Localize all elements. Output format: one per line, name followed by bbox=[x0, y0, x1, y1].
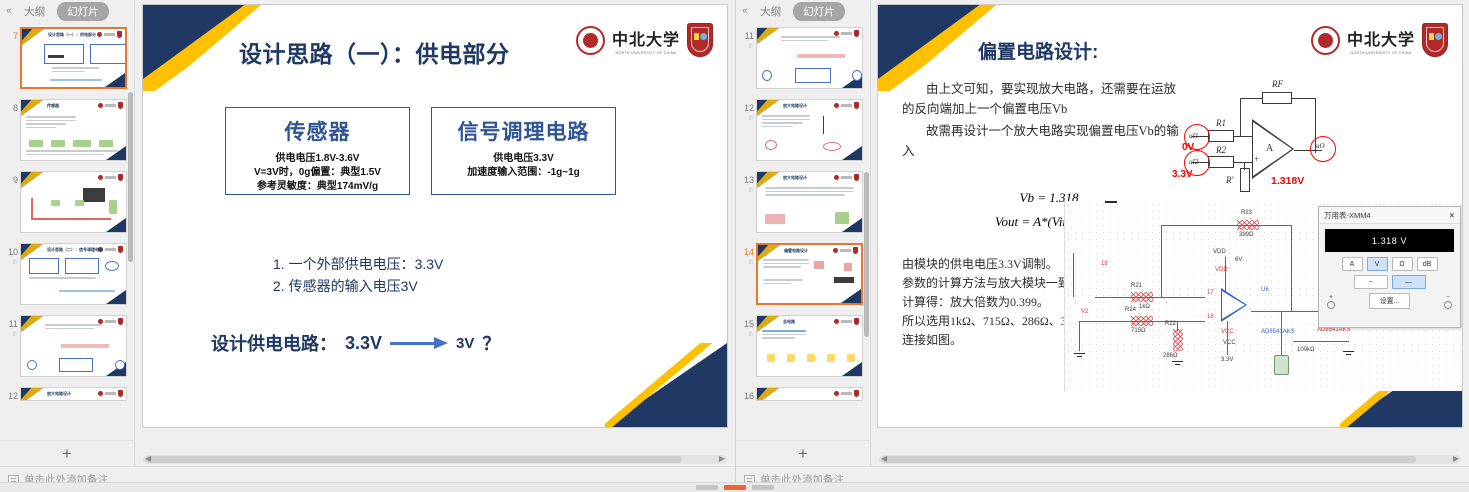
thumbnail-item[interactable]: 8 传感器 bbox=[0, 94, 134, 166]
thumbnail-item[interactable]: 11 ☆ bbox=[0, 310, 134, 382]
mini-shape bbox=[65, 258, 99, 274]
mini-shape bbox=[765, 214, 785, 224]
value-r24: 715Ω bbox=[1131, 328, 1146, 334]
mini-slide-title: 放大电路设计 bbox=[783, 175, 807, 181]
mini-university-logo bbox=[834, 390, 859, 397]
tab-slides[interactable]: 幻灯片 bbox=[793, 2, 845, 21]
thumbnail-list-left[interactable]: 7 设计思路（一）：供电部分 bbox=[0, 22, 134, 440]
ground-symbol bbox=[1343, 351, 1354, 358]
mini-shape bbox=[109, 200, 117, 214]
label-uo: uO bbox=[1316, 142, 1325, 150]
university-seal-icon bbox=[576, 26, 605, 55]
pane-right-body: « 大纲 幻灯片 11 ☆ bbox=[736, 0, 1469, 466]
mini-university-logo bbox=[834, 174, 859, 181]
mini-shape bbox=[59, 358, 93, 372]
net-18: 18 bbox=[1207, 314, 1214, 320]
ordered-list: 1. 一个外部供电电压：3.3V 2. 传感器的输入电压3V bbox=[273, 253, 443, 297]
mini-shape bbox=[105, 261, 119, 271]
label-rprime: R' bbox=[1226, 175, 1233, 185]
key-box-line: 供电电压1.8V-3.6V bbox=[226, 152, 409, 166]
slide-canvas-14[interactable]: 偏置电路设计: 中北大学 NORTH UNIVERSITY OF CHINA 由… bbox=[877, 4, 1463, 428]
mini-text-lines bbox=[763, 259, 809, 270]
load-label: 100kΩ bbox=[1297, 347, 1315, 353]
label-amp: A bbox=[1266, 143, 1273, 154]
thumbnail-number: 13 bbox=[738, 175, 754, 186]
key-box-sensor: 传感器 供电电压1.8V-3.6V V=3V时，0g偏置：典型1.5V 参考灵敏… bbox=[225, 107, 410, 195]
multimeter-coupling-row: ~ — bbox=[1319, 275, 1460, 289]
key-box-signal-conditioning: 信号调理电路 供电电压3.3V 加速度输入范围：-1g~1g bbox=[431, 107, 616, 195]
pane-left-body: « 大纲 幻灯片 7 设计思路（一）：供电部 bbox=[0, 0, 735, 466]
thumbnail-number: 11 bbox=[2, 319, 18, 330]
mini-text-lines bbox=[29, 277, 118, 281]
key-box-heading: 传感器 bbox=[226, 116, 409, 146]
mini-shape bbox=[73, 140, 91, 147]
mini-shape bbox=[847, 354, 855, 362]
horizontal-scrollbar-right[interactable]: ◀ ▶ bbox=[879, 455, 1461, 464]
mini-corner-bottom-right bbox=[105, 73, 125, 87]
thumbnail-meta: 9 bbox=[2, 171, 18, 186]
thumbnail-preview[interactable]: 放大电路设计 bbox=[756, 99, 863, 161]
mini-university-logo bbox=[98, 174, 123, 181]
terminal-plus-label: + bbox=[1329, 294, 1333, 301]
collapse-icon[interactable]: « bbox=[6, 5, 12, 17]
thumbnail-item[interactable]: 12 放大电路设计 bbox=[0, 382, 134, 407]
mini-slide-title: 总电路 bbox=[783, 319, 795, 325]
mini-university-logo bbox=[834, 102, 859, 109]
thumbnail-star-icon: ☆ bbox=[2, 258, 18, 267]
mini-shape bbox=[827, 354, 835, 362]
terminal-minus-icon[interactable] bbox=[1444, 301, 1452, 309]
list-item: 1. 一个外部供电电压：3.3V bbox=[273, 253, 443, 275]
resistor-rf bbox=[1262, 92, 1292, 104]
mini-slide-title: 传感器 bbox=[47, 103, 59, 109]
body-paragraph-2: 故需再设计一个放大电路实现偏置电压Vb的输入 bbox=[902, 121, 1180, 161]
label-r1: R1 bbox=[1216, 118, 1226, 128]
taskbar-strip[interactable] bbox=[0, 482, 1469, 492]
thumbnail-item[interactable]: 11 ☆ bbox=[736, 22, 870, 94]
net-u6: U6 bbox=[1261, 287, 1269, 293]
thumbnail-item[interactable]: 12 ☆ 放大电路设计 bbox=[736, 94, 870, 166]
coupling-button-ac[interactable]: ~ bbox=[1354, 275, 1388, 289]
mini-shape bbox=[814, 261, 824, 269]
wire bbox=[1251, 311, 1321, 312]
thumbnail-number: 16 bbox=[738, 391, 754, 402]
thumbnail-number: 9 bbox=[2, 175, 18, 186]
mini-shape bbox=[835, 212, 849, 224]
mini-corner-top-left bbox=[757, 28, 779, 44]
label-plus: + bbox=[1254, 154, 1259, 164]
wire bbox=[1161, 225, 1291, 226]
thumbnail-star-icon: ☆ bbox=[2, 330, 18, 339]
mini-shape bbox=[48, 55, 64, 58]
supply-vcc-value: 3.3V bbox=[1221, 357, 1233, 363]
slide-canvas-wrapper-right: 偏置电路设计: 中北大学 NORTH UNIVERSITY OF CHINA 由… bbox=[877, 4, 1463, 453]
coupling-button-dc[interactable]: — bbox=[1392, 275, 1426, 289]
mini-shape bbox=[844, 263, 852, 271]
wire bbox=[1227, 321, 1228, 355]
taskbar-item[interactable] bbox=[752, 485, 774, 490]
mini-shape bbox=[762, 70, 772, 81]
mini-shape bbox=[29, 258, 59, 274]
supply-vdd-value: 6V bbox=[1235, 257, 1242, 263]
mini-shape bbox=[852, 70, 862, 81]
mini-shape bbox=[823, 116, 824, 134]
mini-corner-top-left bbox=[21, 316, 43, 332]
mini-slide-title: 设计思路（二）：信号调理电路 bbox=[47, 247, 103, 253]
slide-canvas-wrapper-left: 设计思路（一）：供电部分 中北大学 NORTH UNIVERSITY OF CH… bbox=[141, 4, 729, 453]
thumbnail-number: 12 bbox=[2, 391, 18, 402]
thumbnail-item[interactable]: 10 ☆ 设计思路（二）：信号调理电路 bbox=[0, 238, 134, 310]
mini-shape bbox=[50, 79, 102, 81]
mini-shape bbox=[99, 140, 113, 147]
thumbnail-preview[interactable] bbox=[20, 315, 127, 377]
university-name-cn: 中北大学 bbox=[612, 26, 680, 50]
mini-corner-top-left bbox=[757, 172, 779, 188]
mini-corner-bottom-right bbox=[841, 289, 861, 303]
mini-university-logo bbox=[98, 390, 123, 397]
scroll-right-icon[interactable]: ▶ bbox=[1453, 454, 1459, 463]
mini-university-logo bbox=[97, 31, 122, 38]
mini-shape bbox=[823, 142, 841, 151]
ground-symbol bbox=[1172, 361, 1183, 368]
conclusion-from: 3.3V bbox=[345, 333, 382, 354]
opamp-symbol-fill bbox=[1222, 291, 1245, 319]
mini-shape bbox=[59, 290, 115, 292]
wire bbox=[1079, 321, 1080, 351]
conclusion-label: 设计供电电路： bbox=[211, 330, 337, 356]
mini-slide-title: 放大电路设计 bbox=[47, 391, 71, 397]
mini-text-lines bbox=[45, 324, 102, 331]
multimeter-footer: + 设置... − bbox=[1319, 289, 1460, 309]
university-name: 中北大学 NORTH UNIVERSITY OF CHINA bbox=[612, 26, 680, 55]
thumbnail-meta: 8 bbox=[2, 99, 18, 114]
mini-university-logo bbox=[834, 318, 859, 325]
multisim-schematic[interactable]: R23 399Ω VDD VDD 6V U6 18 bbox=[1064, 201, 1463, 391]
mini-text-lines bbox=[762, 115, 810, 129]
label-r23: R23 bbox=[1241, 210, 1252, 216]
mini-university-logo bbox=[833, 247, 858, 254]
thumbnail-preview[interactable]: 设计思路（一）：供电部分 bbox=[20, 27, 127, 89]
mini-shape bbox=[31, 198, 33, 220]
key-box-heading: 信号调理电路 bbox=[432, 116, 615, 146]
university-name-cn: 中北大学 bbox=[1347, 26, 1415, 50]
ground-symbol bbox=[1074, 353, 1085, 360]
settings-button[interactable]: 设置... bbox=[1369, 293, 1411, 309]
scroll-right-icon[interactable]: ▶ bbox=[719, 454, 725, 463]
scroll-left-icon[interactable]: ◀ bbox=[145, 454, 151, 463]
wire bbox=[1281, 311, 1282, 357]
thumbnail-list-right[interactable]: 11 ☆ bbox=[736, 22, 870, 440]
mini-corner-top-left bbox=[22, 29, 44, 45]
mini-shape bbox=[807, 354, 815, 362]
university-crest-icon bbox=[687, 23, 713, 57]
university-seal-icon bbox=[1311, 26, 1340, 55]
resistor-r1 bbox=[1208, 130, 1234, 142]
thumbnail-meta: 14 ☆ bbox=[738, 243, 754, 267]
page-title: 设计思路（一）：供电部分 bbox=[239, 35, 510, 69]
mini-shape bbox=[75, 200, 84, 206]
thumbnail-star-icon: ☆ bbox=[738, 330, 754, 339]
thumbnail-preview[interactable]: 总电路 bbox=[756, 315, 863, 377]
thumbnail-star-icon: ☆ bbox=[738, 114, 754, 123]
mode-button-ohm[interactable]: Ω bbox=[1392, 257, 1413, 271]
mini-text-lines bbox=[26, 150, 118, 157]
add-slide-button[interactable]: + bbox=[736, 440, 870, 466]
mini-corner-bottom-right bbox=[106, 290, 126, 304]
decor-corner-bottom-right bbox=[605, 343, 727, 427]
label-r24: R24 bbox=[1125, 307, 1136, 313]
multimeter-display: 1.318 V bbox=[1325, 229, 1454, 252]
multimeter-mode-row: A V Ω dB bbox=[1319, 257, 1460, 271]
university-name-en: NORTH UNIVERSITY OF CHINA bbox=[616, 51, 677, 55]
thumbnail-number: 12 bbox=[738, 103, 754, 114]
mini-corner-top-left bbox=[21, 172, 43, 188]
thumbnail-preview[interactable]: 放大电路设计 bbox=[20, 387, 127, 401]
thumbnail-item[interactable]: 13 ☆ 放大电路设计 bbox=[736, 166, 870, 238]
resistor-r24 bbox=[1131, 316, 1153, 326]
value-r23: 399Ω bbox=[1239, 232, 1254, 238]
mini-corner-top-left bbox=[757, 100, 779, 116]
net-vcc: VCC bbox=[1223, 340, 1236, 346]
thumbnail-meta: 13 ☆ bbox=[738, 171, 754, 195]
mini-shape bbox=[765, 140, 777, 150]
mini-university-logo bbox=[98, 102, 123, 109]
header-logos: 中北大学 NORTH UNIVERSITY OF CHINA bbox=[576, 23, 713, 57]
thumbnail-item[interactable]: 16 bbox=[736, 382, 870, 407]
net-vdd: VDD bbox=[1213, 249, 1226, 255]
label-ui2: uI2 bbox=[1189, 158, 1198, 166]
mini-text-lines bbox=[762, 330, 806, 341]
mini-text-lines bbox=[26, 116, 76, 130]
thumbnail-meta: 10 ☆ bbox=[2, 243, 18, 267]
tab-outline[interactable]: 大纲 bbox=[20, 3, 49, 20]
multimeter-titlebar[interactable]: 万用表-XMM4 ✕ bbox=[1319, 207, 1460, 224]
label-ui1: uI1 bbox=[1189, 132, 1198, 140]
mini-text-lines bbox=[763, 279, 803, 286]
terminal-minus-label: − bbox=[1446, 294, 1450, 301]
label-r21: R21 bbox=[1131, 283, 1142, 289]
mini-shape bbox=[90, 44, 127, 64]
mini-shape bbox=[797, 54, 845, 58]
taskbar-item-active[interactable] bbox=[724, 485, 746, 490]
value-r22: 286Ω bbox=[1163, 353, 1178, 359]
mini-shape bbox=[51, 200, 60, 206]
mini-corner-top-left bbox=[21, 388, 43, 401]
horizontal-scrollbar-left[interactable]: ◀ ▶ bbox=[143, 455, 727, 464]
mini-shape bbox=[31, 218, 111, 220]
mini-corner-bottom-right bbox=[842, 362, 862, 376]
mini-corner-top-left bbox=[757, 388, 779, 401]
opamp-schematic: RF R1 R2 R' bbox=[1178, 80, 1358, 195]
key-box-line: 加速度输入范围：-1g~1g bbox=[432, 166, 615, 180]
mini-shape bbox=[61, 344, 109, 348]
close-icon[interactable]: ✕ bbox=[1449, 211, 1455, 220]
resistor-r22 bbox=[1173, 329, 1183, 351]
add-slide-button[interactable]: + bbox=[0, 440, 134, 466]
mini-shape bbox=[51, 140, 65, 147]
arrow-right-icon bbox=[390, 337, 448, 349]
slide-stage-right: 偏置电路设计: 中北大学 NORTH UNIVERSITY OF CHINA 由… bbox=[871, 0, 1469, 466]
thumbnail-preview[interactable]: 传感器 bbox=[20, 99, 127, 161]
thumbnail-meta: 15 ☆ bbox=[738, 315, 754, 339]
university-crest-icon bbox=[1422, 23, 1448, 57]
multimeter-window[interactable]: 万用表-XMM4 ✕ 1.318 V A V Ω dB bbox=[1318, 206, 1461, 328]
thumbnail-item[interactable]: 9 bbox=[0, 166, 134, 238]
thumbnail-star-icon: ☆ bbox=[738, 186, 754, 195]
mini-corner-bottom-right bbox=[106, 218, 126, 232]
scroll-left-icon[interactable]: ◀ bbox=[881, 454, 887, 463]
resistor-rprime bbox=[1240, 168, 1250, 192]
list-item: 2. 传感器的输入电压3V bbox=[273, 275, 443, 297]
thumbnail-number: 15 bbox=[738, 319, 754, 330]
thumbnail-scrollbar[interactable] bbox=[864, 172, 869, 337]
thumbnail-item[interactable]: 15 ☆ 总电路 bbox=[736, 310, 870, 382]
mini-shape bbox=[834, 277, 854, 283]
thumbnail-number: 8 bbox=[2, 103, 18, 114]
wire bbox=[1161, 225, 1162, 297]
thumbnail-preview[interactable] bbox=[756, 27, 863, 89]
key-box-line: 参考灵敏度：典型174mV/g bbox=[226, 180, 409, 194]
opamp-part-label: AD8541AKS bbox=[1261, 329, 1295, 335]
thumbnail-meta: 11 ☆ bbox=[2, 315, 18, 339]
key-box-line: V=3V时，0g偏置：典型1.5V bbox=[226, 166, 409, 180]
thumbnail-number: 11 bbox=[738, 31, 754, 42]
mini-corner-top-left bbox=[21, 100, 43, 116]
label-r2: R2 bbox=[1216, 145, 1226, 155]
slide-stage-left: 设计思路（一）：供电部分 中北大学 NORTH UNIVERSITY OF CH… bbox=[135, 0, 735, 466]
mini-shape bbox=[44, 44, 84, 64]
slide-thumbnail-sidebar-left[interactable]: « 大纲 幻灯片 7 设计思路（一）：供电部 bbox=[0, 0, 135, 466]
mini-slide-title: 放大电路设计 bbox=[783, 103, 807, 109]
header-logos: 中北大学 NORTH UNIVERSITY OF CHINA bbox=[1311, 23, 1448, 57]
collapse-icon[interactable]: « bbox=[742, 5, 748, 17]
university-name: 中北大学 NORTH UNIVERSITY OF CHINA bbox=[1347, 26, 1415, 55]
thumbnail-meta: 7 bbox=[2, 27, 18, 42]
net-2: 18 bbox=[1101, 261, 1108, 267]
mode-button-db[interactable]: dB bbox=[1417, 257, 1438, 271]
mini-text-lines bbox=[765, 187, 854, 198]
thumbnail-preview[interactable] bbox=[756, 387, 863, 401]
thumbnail-meta: 11 ☆ bbox=[738, 27, 754, 51]
wire bbox=[1240, 98, 1241, 136]
thumbnail-star-icon: ☆ bbox=[738, 42, 754, 51]
body-paragraph-1: 由上文可知，要实现放大电路，还需要在运放的反向端加上一个偏置电压Vb bbox=[902, 79, 1180, 119]
thumbnail-number: 14 bbox=[738, 247, 754, 258]
label-rf: RF bbox=[1272, 79, 1283, 89]
thumbnail-star-icon: ☆ bbox=[738, 258, 754, 267]
net-v2: V2 bbox=[1081, 309, 1088, 315]
thumbnail-scrollbar[interactable] bbox=[128, 92, 133, 262]
key-box-line: 供电电压3.3V bbox=[432, 152, 615, 166]
mini-shape bbox=[27, 360, 37, 370]
resistor-r21 bbox=[1131, 292, 1153, 302]
pane-left: « 大纲 幻灯片 7 设计思路（一）：供电部 bbox=[0, 0, 735, 492]
thumbnail-meta: 12 bbox=[2, 387, 18, 402]
app-root: « 大纲 幻灯片 7 设计思路（一）：供电部 bbox=[0, 0, 1469, 492]
conclusion-line: 设计供电电路： 3.3V 3V ？ bbox=[211, 330, 500, 356]
wire bbox=[1177, 321, 1178, 331]
pane-right: « 大纲 幻灯片 11 ☆ bbox=[735, 0, 1469, 492]
slide-canvas-7[interactable]: 设计思路（一）：供电部分 中北大学 NORTH UNIVERSITY OF CH… bbox=[142, 4, 728, 428]
mini-shape bbox=[29, 140, 43, 147]
multimeter-title: 万用表-XMM4 bbox=[1324, 210, 1371, 221]
thumbnail-item[interactable]: 7 设计思路（一）：供电部分 bbox=[0, 22, 134, 94]
thumbnail-number: 10 bbox=[2, 247, 18, 258]
mini-text-lines bbox=[52, 67, 99, 74]
mini-text-lines bbox=[781, 36, 840, 43]
wire bbox=[1073, 253, 1074, 297]
mini-shape bbox=[795, 68, 831, 83]
thumbnail-number: 7 bbox=[2, 31, 18, 42]
mini-shape bbox=[767, 354, 775, 362]
wire bbox=[1244, 162, 1245, 170]
thumbnail-meta: 12 ☆ bbox=[738, 99, 754, 123]
mini-shape bbox=[83, 188, 105, 202]
page-title: 偏置电路设计: bbox=[978, 37, 1098, 64]
mini-shape bbox=[787, 354, 795, 362]
probe-symbol bbox=[1105, 201, 1117, 203]
tab-slides[interactable]: 幻灯片 bbox=[57, 2, 109, 21]
thumbnail-item[interactable]: 14 ☆ 偏置电路设计 bbox=[736, 238, 870, 310]
mini-shape bbox=[115, 360, 125, 370]
wire bbox=[1291, 225, 1292, 311]
value-r21: 1kΩ bbox=[1139, 304, 1150, 310]
thumbnail-preview[interactable]: 放大电路设计 bbox=[756, 171, 863, 233]
conclusion-to: 3V bbox=[456, 335, 474, 352]
wire bbox=[1293, 341, 1349, 342]
sidebar-header-right: « 大纲 幻灯片 bbox=[736, 0, 870, 22]
mini-slide-title: 设计思路（一）：供电部分 bbox=[48, 32, 96, 38]
mini-corner-bottom-right bbox=[842, 146, 862, 160]
probe-connector bbox=[1274, 355, 1289, 375]
conclusion-question: ？ bbox=[482, 330, 500, 356]
thumbnail-preview[interactable] bbox=[20, 171, 127, 233]
university-name-en: NORTH UNIVERSITY OF CHINA bbox=[1351, 51, 1412, 55]
label-r22: R22 bbox=[1165, 321, 1176, 327]
resistor-r23 bbox=[1237, 220, 1259, 230]
mode-button-a[interactable]: A bbox=[1342, 257, 1363, 271]
thumbnail-meta: 16 bbox=[738, 387, 754, 402]
sidebar-header-left: « 大纲 幻灯片 bbox=[0, 0, 134, 22]
thumbnail-preview[interactable]: 设计思路（二）：信号调理电路 bbox=[20, 243, 127, 305]
mode-button-v[interactable]: V bbox=[1367, 257, 1388, 271]
terminal-plus-icon[interactable] bbox=[1327, 301, 1335, 309]
net-17: 17 bbox=[1207, 290, 1214, 296]
mini-slide-title: 偏置电路设计 bbox=[784, 248, 808, 254]
thumbnail-preview[interactable]: 偏置电路设计 bbox=[756, 243, 863, 305]
resistor-r2 bbox=[1208, 156, 1234, 168]
slide-thumbnail-sidebar-right[interactable]: « 大纲 幻灯片 11 ☆ bbox=[736, 0, 871, 466]
tab-outline[interactable]: 大纲 bbox=[756, 3, 785, 20]
taskbar-item[interactable] bbox=[696, 485, 718, 490]
